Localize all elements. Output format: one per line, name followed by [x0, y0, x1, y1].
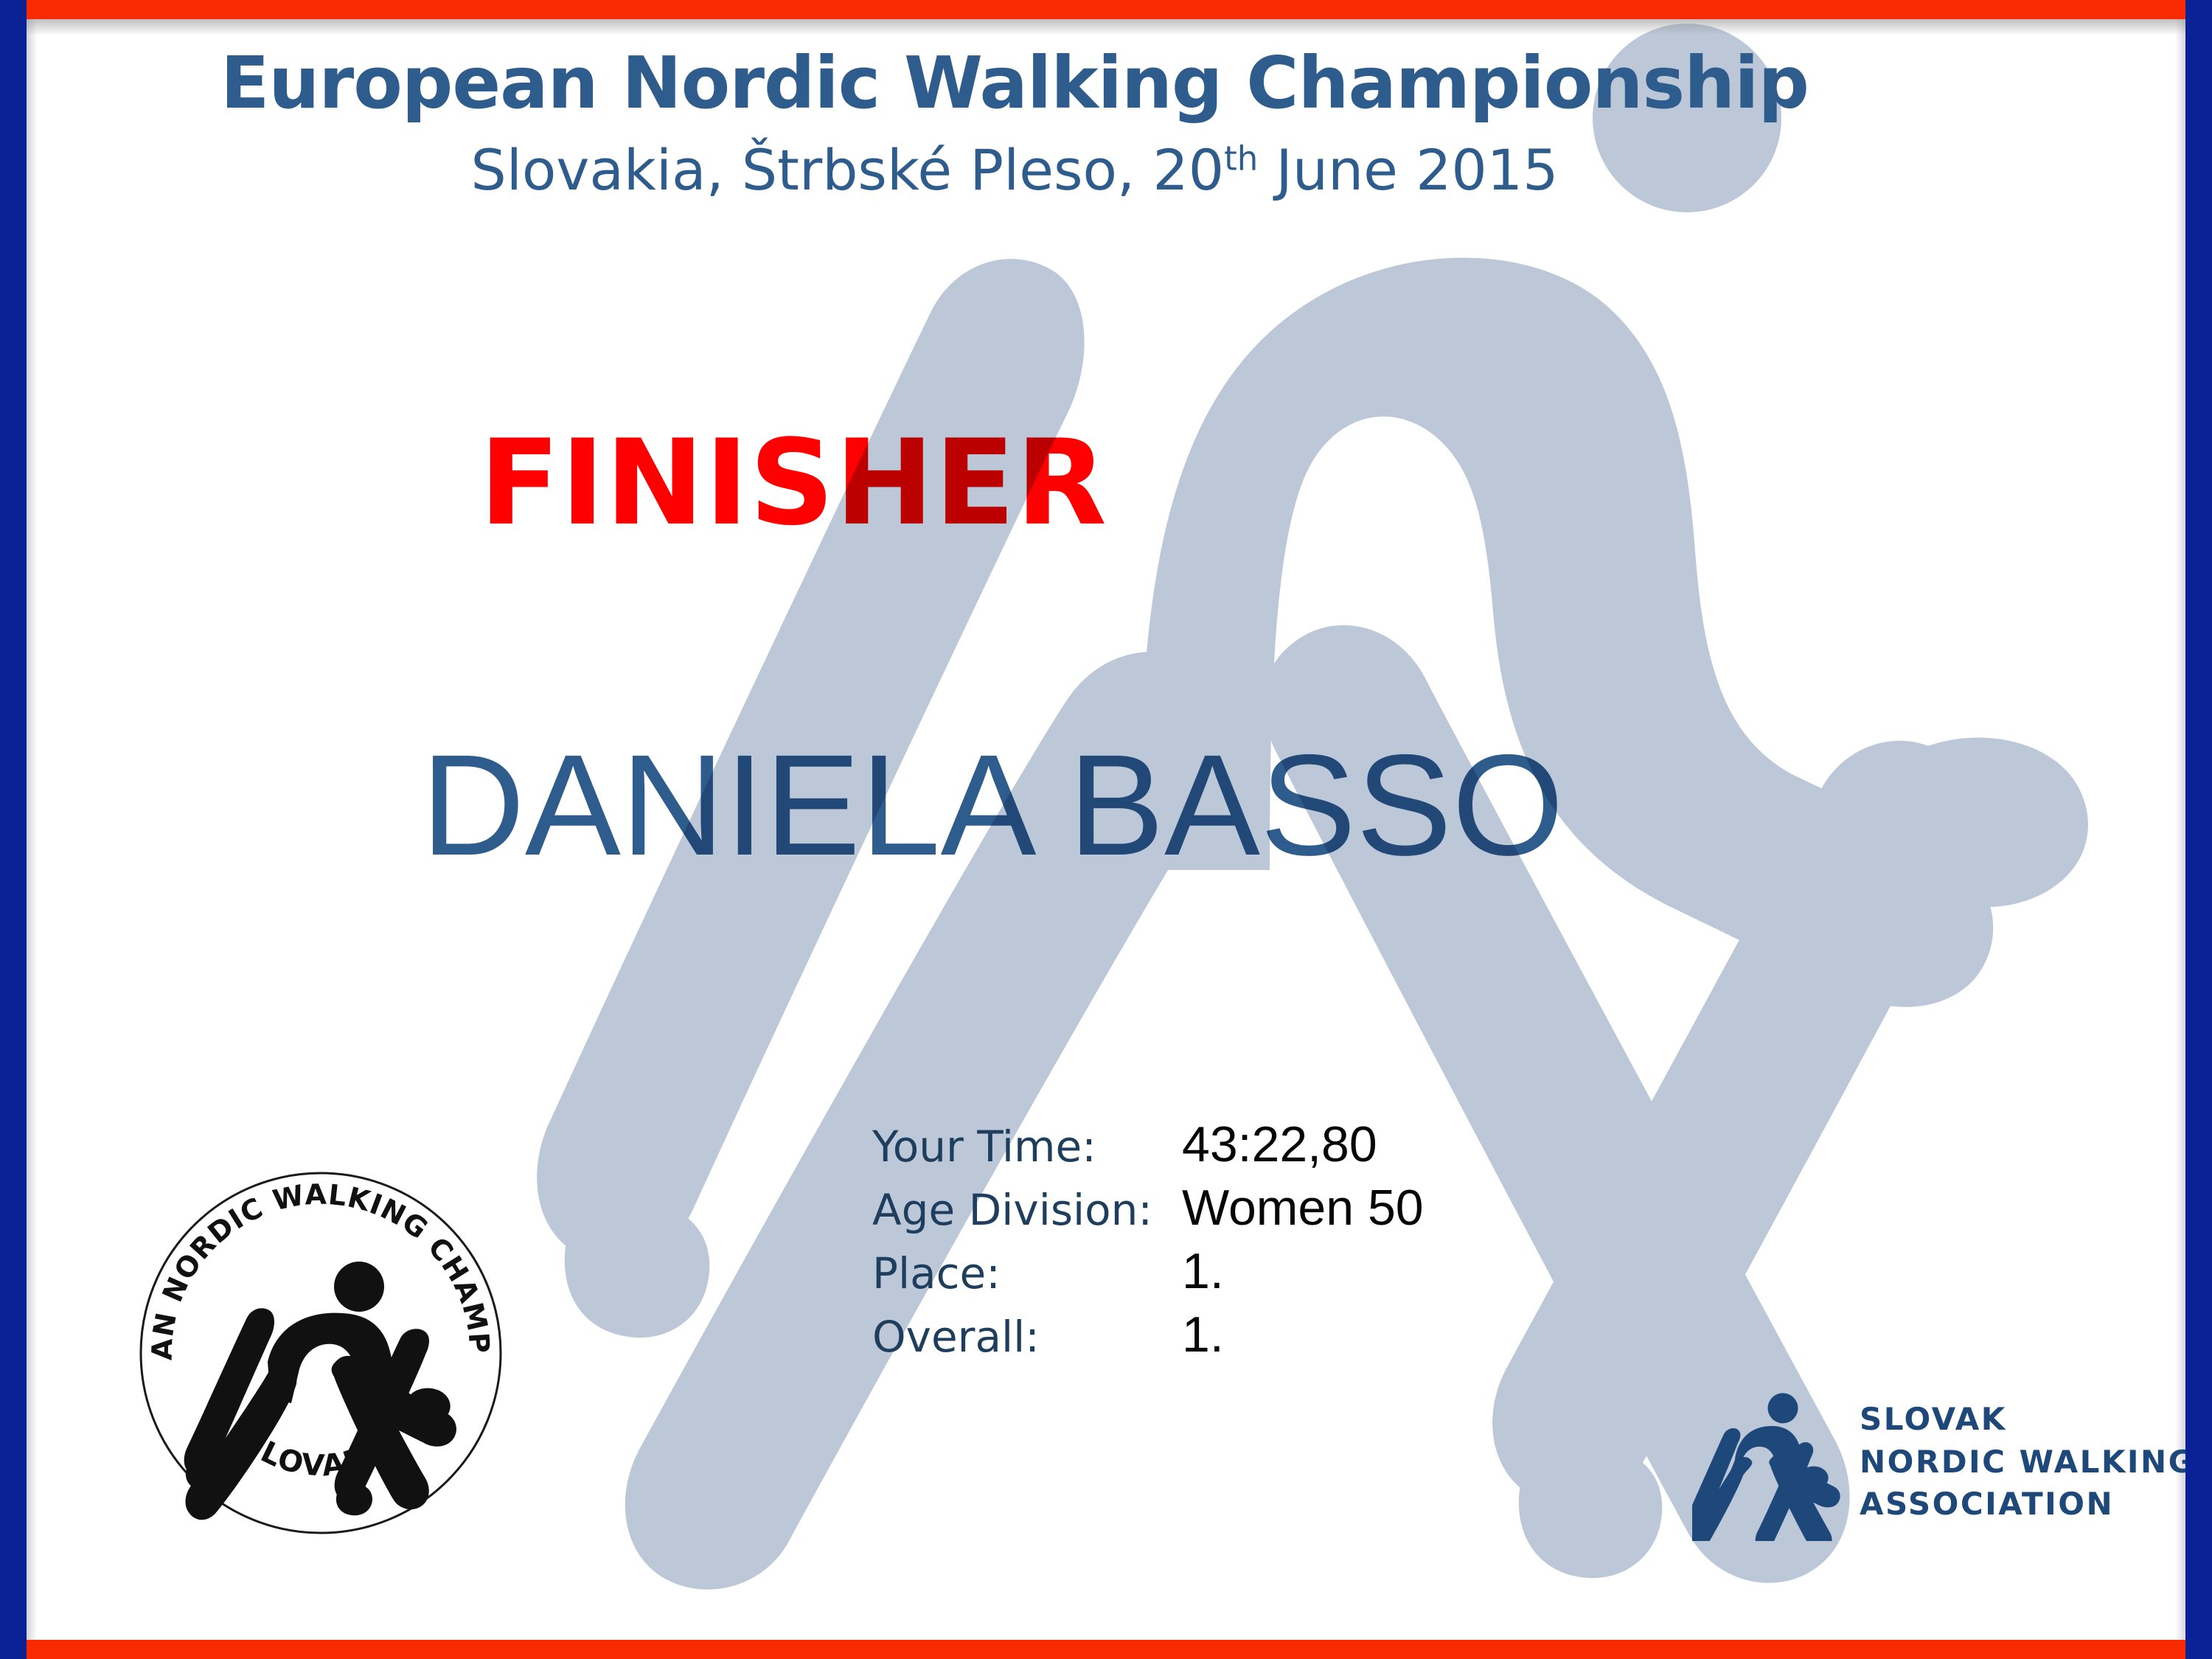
result-label-your-time: Your Time: — [872, 1121, 1182, 1172]
result-label-age-division: Age Division: — [872, 1185, 1182, 1235]
result-value-place: 1. — [1182, 1242, 1224, 1300]
inner-shadow-top — [27, 19, 2185, 35]
border-right-blue — [2185, 0, 2212, 1659]
result-row-age-division: Age Division: Women 50 — [872, 1179, 1424, 1242]
result-row-place: Place: 1. — [872, 1242, 1424, 1306]
snwa-logo-line2: NORDIC WALKING — [1860, 1441, 2196, 1484]
event-subtitle-prefix: Slovakia, Štrbské Pleso, 20 — [470, 137, 1224, 203]
result-row-your-time: Your Time: 43:22,80 — [872, 1116, 1424, 1179]
results-block: Your Time: 43:22,80 Age Division: Women … — [872, 1116, 1424, 1369]
snwa-walker-icon — [1692, 1382, 1843, 1541]
result-value-your-time: 43:22,80 — [1182, 1116, 1377, 1173]
border-left-blue — [0, 0, 27, 1659]
event-subtitle: Slovakia, Štrbské Pleso, 20th June 2015 — [27, 138, 2003, 202]
event-subtitle-superscript: th — [1224, 139, 1258, 178]
snwa-logo-text: SLOVAK NORDIC WALKING ASSOCIATION — [1860, 1398, 2196, 1526]
athlete-name: DANIELA BASSO — [27, 734, 1958, 877]
result-value-overall: 1. — [1182, 1306, 1224, 1363]
enwc-championship-logo: EUROPEAN NORDIC WALKING CHAMPIONSHIP SLO… — [136, 1169, 505, 1537]
result-label-overall: Overall: — [872, 1312, 1182, 1362]
award-status: FINISHER — [27, 424, 1560, 542]
result-row-overall: Overall: 1. — [872, 1306, 1424, 1369]
result-label-place: Place: — [872, 1248, 1182, 1298]
result-value-age-division: Women 50 — [1182, 1179, 1424, 1237]
snwa-logo-line3: ASSOCIATION — [1860, 1483, 2196, 1526]
border-top-red — [0, 0, 2212, 19]
header-block: European Nordic Walking Championship Slo… — [27, 44, 2003, 202]
snwa-logo-line1: SLOVAK — [1860, 1398, 2196, 1441]
event-title: European Nordic Walking Championship — [27, 44, 2003, 123]
certificate-canvas: European Nordic Walking Championship Slo… — [0, 0, 2212, 1659]
border-bottom-red — [0, 1640, 2212, 1659]
slovak-nordic-walking-association-logo: SLOVAK NORDIC WALKING ASSOCIATION — [1692, 1382, 2186, 1541]
event-subtitle-suffix: June 2015 — [1258, 137, 1558, 203]
